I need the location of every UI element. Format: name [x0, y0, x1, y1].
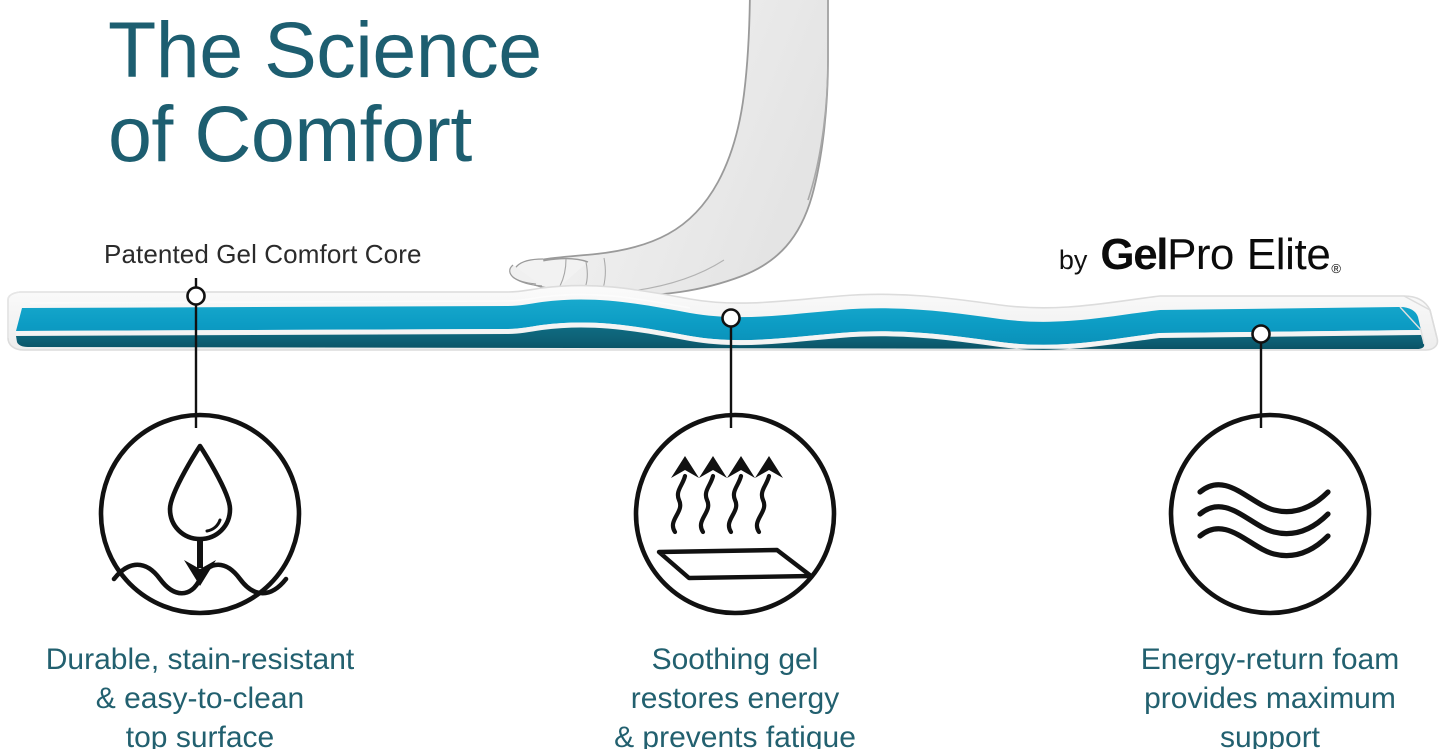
science-of-comfort-infographic: The Science of Comfort Patented Gel Comf… [0, 0, 1445, 749]
callout-dot-gel-layer [723, 310, 740, 327]
brand-word-elite: Elite [1247, 230, 1331, 280]
callout-dot-gel-core [188, 288, 205, 305]
brand-lockup: by Gel Pro Elite ® [1059, 230, 1341, 280]
gel-comfort-core-label: Patented Gel Comfort Core [104, 238, 422, 270]
brand-word-pro: Pro [1167, 230, 1234, 280]
page-title: The Science of Comfort [108, 8, 748, 176]
callout-dot-foam-layer [1253, 326, 1270, 343]
brand-word-gel: Gel [1100, 230, 1167, 280]
brand-by-text: by [1059, 245, 1088, 276]
registered-trademark-icon: ® [1331, 261, 1341, 280]
